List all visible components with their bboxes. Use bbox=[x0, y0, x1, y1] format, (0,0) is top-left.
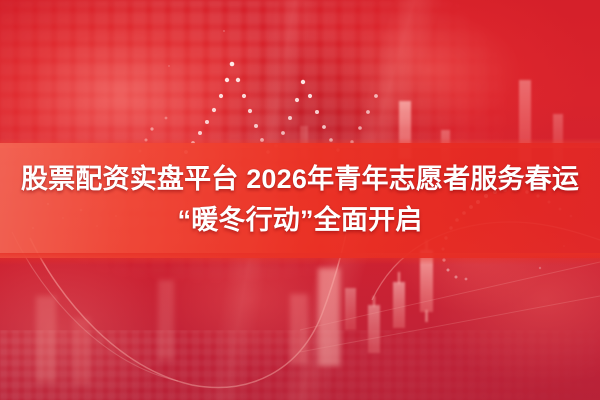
banner-image: 股票配资实盘平台 2026年青年志愿者服务春运 “暖冬行动”全面开启 bbox=[0, 0, 600, 400]
bottom-vignette bbox=[0, 0, 600, 400]
